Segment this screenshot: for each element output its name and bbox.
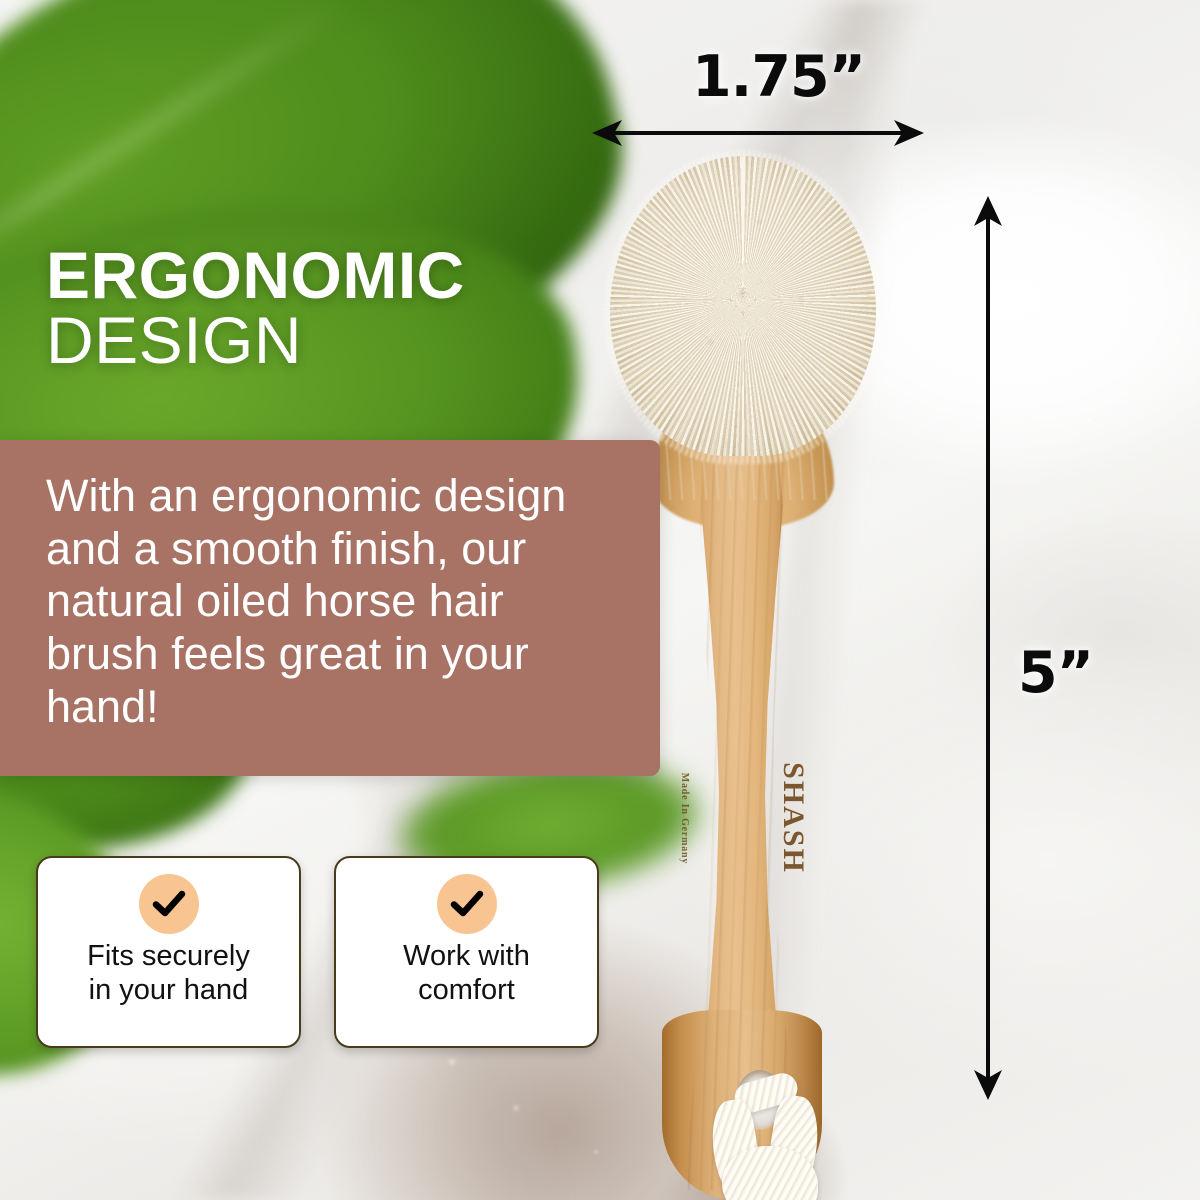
description-panel: With an ergonomic design and a smooth fi…	[0, 440, 660, 776]
title-line-primary: ERGONOMIC	[46, 244, 666, 307]
double-headed-horizontal-arrow-icon	[592, 118, 924, 148]
feature-card[interactable]: Work with comfort	[334, 856, 599, 1048]
description-text: With an ergonomic design and a smooth fi…	[0, 440, 660, 733]
origin-engraving-text: Made In Germany	[679, 772, 690, 863]
stray-bristles	[660, 440, 830, 500]
feature-card-list: Fits securely in your hand Work with com…	[36, 856, 599, 1048]
double-headed-vertical-arrow-icon	[970, 196, 1006, 1100]
cotton-hanging-rope-icon	[708, 1078, 848, 1200]
feature-card-label: Work with comfort	[403, 940, 530, 1007]
checkmark-icon	[437, 874, 497, 934]
width-dimension-label: 1.75”	[692, 44, 865, 110]
title-line-secondary: DESIGN	[46, 307, 666, 374]
product-infographic: Made In Germany SHASH 1.75” 5” ERGONOMIC…	[0, 0, 1200, 1200]
page-title: ERGONOMIC DESIGN	[46, 244, 666, 375]
height-dimension-label: 5”	[1018, 640, 1093, 706]
handle-engraving: Made In Germany SHASH	[684, 728, 804, 908]
feature-card[interactable]: Fits securely in your hand	[36, 856, 301, 1048]
checkmark-icon	[139, 874, 199, 934]
feature-card-label: Fits securely in your hand	[87, 940, 250, 1007]
brand-engraving-text: SHASH	[776, 762, 810, 874]
